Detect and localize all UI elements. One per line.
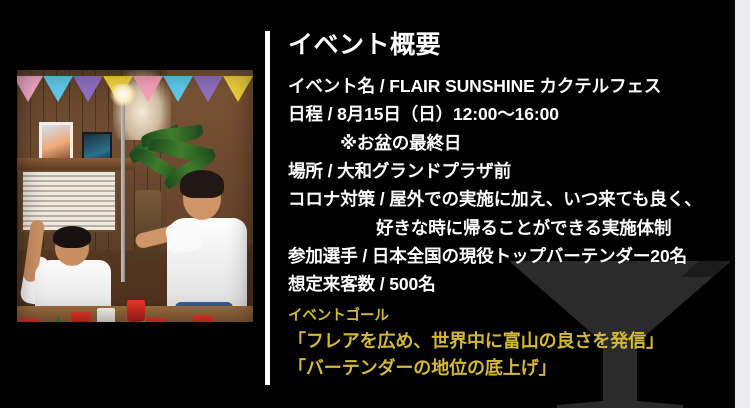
info-row-covid-measures: コロナ対策 / 屋外での実施に加え、いつ来ても良く、 [288, 185, 718, 213]
event-goal-quote: 「フレアを広め、世界中に富山の良さを発信」 [288, 328, 718, 355]
event-overview-slide: イベント概要 イベント名 / FLAIR SUNSHINE カクテルフェス 日程… [0, 0, 750, 408]
info-row-covid-measures-cont: 好きな時に帰ることができる実施体制 [288, 214, 718, 242]
info-separator: / [380, 76, 385, 96]
event-overview-text: イベント概要 イベント名 / FLAIR SUNSHINE カクテルフェス 日程… [288, 30, 718, 382]
info-separator: / [362, 246, 367, 266]
info-label: 場所 [288, 161, 323, 181]
right-edge-strip [735, 0, 750, 408]
event-goal-label: イベントゴール [288, 306, 718, 328]
info-separator: / [328, 104, 333, 124]
info-separator: / [380, 189, 385, 209]
event-goal-quote: 「バーテンダーの地位の底上げ」 [288, 355, 718, 382]
info-row-date-note: ※お盆の最終日 [288, 129, 718, 157]
info-row-date: 日程 / 8月15日（日）12:00〜16:00 [288, 100, 718, 128]
info-label: コロナ対策 [288, 189, 375, 209]
event-photo [17, 70, 253, 322]
info-label: 日程 [288, 104, 323, 124]
info-separator: / [380, 274, 385, 294]
info-value: FLAIR SUNSHINE カクテルフェス [389, 76, 661, 96]
info-value: 500名 [389, 274, 435, 294]
info-value: 屋外での実施に加え、いつ来ても良く、 [389, 189, 701, 209]
info-label: 参加選手 [288, 246, 358, 266]
event-goal-block: イベントゴール 「フレアを広め、世界中に富山の良さを発信」 「バーテンダーの地位… [288, 306, 718, 382]
info-value: 好きな時に帰ることができる実施体制 [376, 218, 671, 238]
page-title: イベント概要 [288, 30, 718, 60]
info-value: 日本全国の現役トップバーテンダー20名 [372, 246, 687, 266]
info-separator: / [328, 161, 333, 181]
info-value: ※お盆の最終日 [340, 133, 461, 153]
info-label: イベント名 [288, 76, 375, 96]
info-label: 想定来客数 [288, 274, 375, 294]
vertical-divider [265, 31, 270, 385]
info-value: 大和グランドプラザ前 [337, 161, 511, 181]
info-row-venue: 場所 / 大和グランドプラザ前 [288, 157, 718, 185]
photo-vignette [17, 70, 253, 322]
info-value: 8月15日（日）12:00〜16:00 [337, 104, 559, 124]
info-row-event-name: イベント名 / FLAIR SUNSHINE カクテルフェス [288, 72, 718, 100]
info-row-participants: 参加選手 / 日本全国の現役トップバーテンダー20名 [288, 242, 718, 270]
info-row-expected-visitors: 想定来客数 / 500名 [288, 270, 718, 298]
